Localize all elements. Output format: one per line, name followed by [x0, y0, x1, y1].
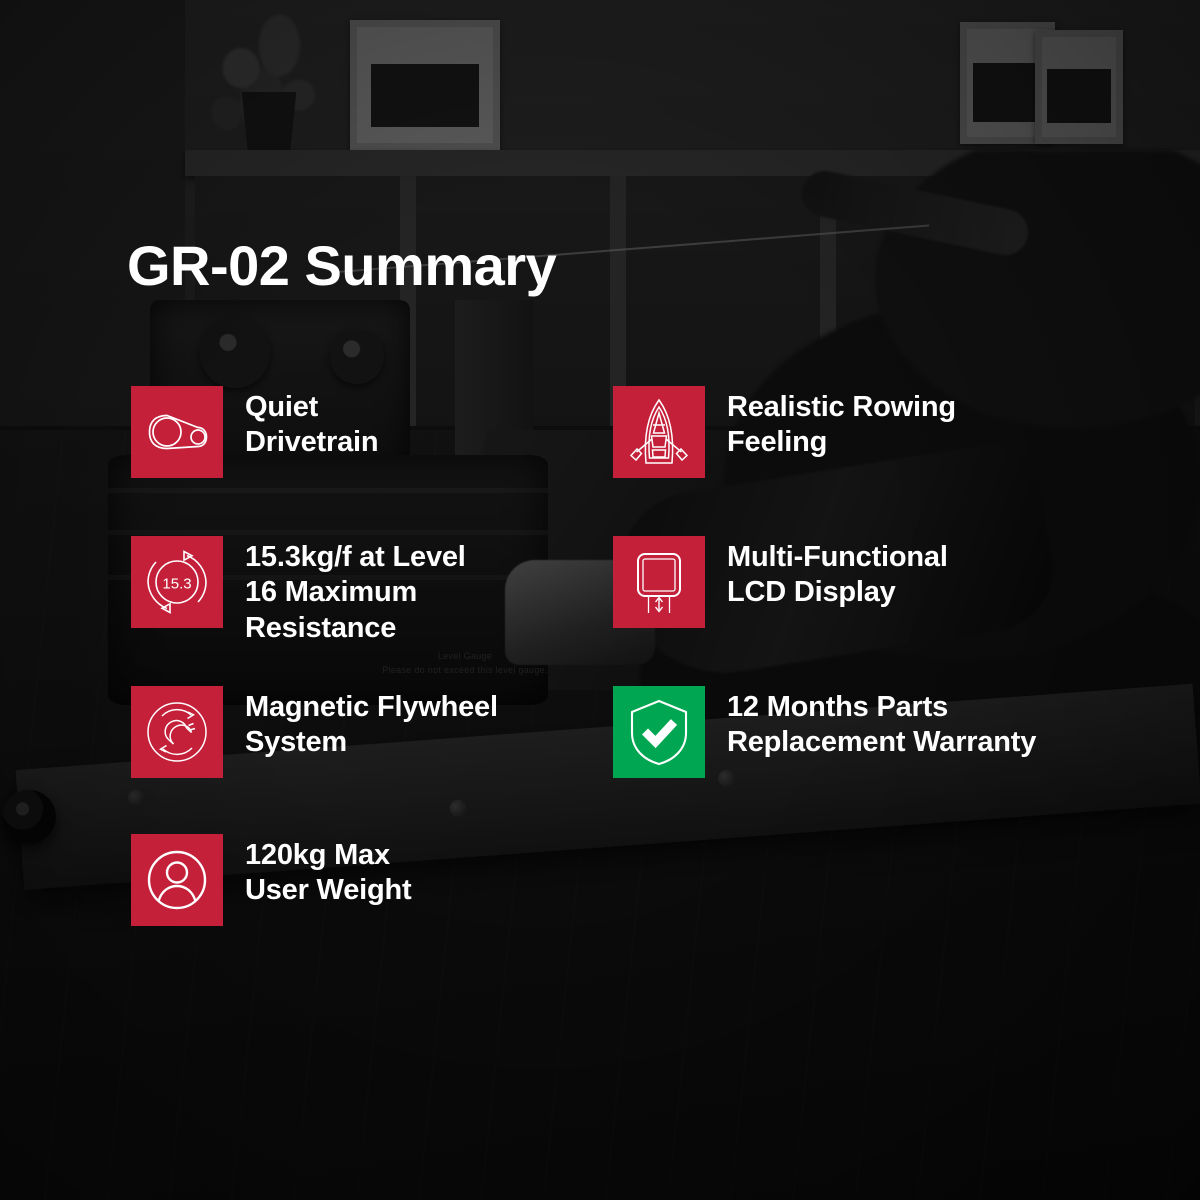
- feature-lcd-display: Multi-Functional LCD Display: [613, 536, 948, 628]
- feature-magnetic-flywheel: Magnetic Flywheel System: [131, 686, 498, 778]
- magnet-rotation-icon: [131, 686, 223, 778]
- feature-max-resistance: 15.3 15.3kg/f at Level 16 Maximum Resist…: [131, 536, 466, 646]
- feature-label: 15.3kg/f at Level 16 Maximum Resistance: [245, 536, 466, 646]
- feature-warranty: 12 Months Parts Replacement Warranty: [613, 686, 1036, 778]
- shield-check-icon: [613, 686, 705, 778]
- product-feature-infographic: Level Gauge Please do not exceed this le…: [0, 0, 1200, 1200]
- svg-text:15.3: 15.3: [162, 576, 191, 593]
- lcd-monitor-icon: [613, 536, 705, 628]
- feature-label: 120kg Max User Weight: [245, 834, 411, 909]
- user-icon: [131, 834, 223, 926]
- feature-label: Magnetic Flywheel System: [245, 686, 498, 761]
- page-title: GR-02 Summary: [127, 233, 556, 298]
- belt-drivetrain-icon: [131, 386, 223, 478]
- feature-quiet-drivetrain: Quiet Drivetrain: [131, 386, 378, 478]
- resistance-dial-icon: 15.3: [131, 536, 223, 628]
- feature-label: 12 Months Parts Replacement Warranty: [727, 686, 1036, 761]
- feature-label: Realistic Rowing Feeling: [727, 386, 956, 461]
- feature-realistic-rowing: Realistic Rowing Feeling: [613, 386, 956, 478]
- feature-max-user-weight: 120kg Max User Weight: [131, 834, 411, 926]
- rowboat-icon: [613, 386, 705, 478]
- feature-label: Multi-Functional LCD Display: [727, 536, 948, 611]
- feature-label: Quiet Drivetrain: [245, 386, 378, 461]
- content-layer: GR-02 Summary Quiet Drivetrain: [0, 0, 1200, 1200]
